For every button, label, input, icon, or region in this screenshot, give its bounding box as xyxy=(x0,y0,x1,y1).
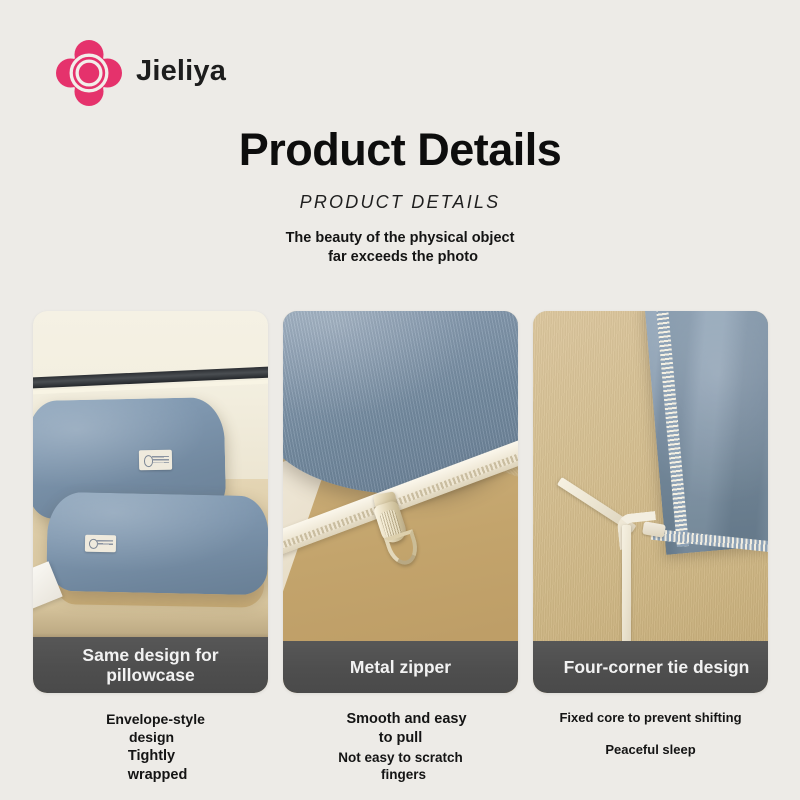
tagline-line-2: far exceeds the photo xyxy=(0,248,800,267)
card-caption-bar: Four-corner tie design xyxy=(533,641,768,693)
page-title: Product Details xyxy=(0,126,800,173)
product-card-corner-tie[interactable]: Four-corner tie design xyxy=(533,311,768,693)
product-card-pillowcase[interactable]: Same design for pillowcase xyxy=(33,311,268,693)
brand-name: Jieliya xyxy=(136,57,226,86)
description-corner-tie: Fixed core to prevent shifting Peaceful … xyxy=(533,700,768,790)
brand-fabric-tag-icon xyxy=(85,535,116,552)
description-line: Peaceful sleep xyxy=(533,742,768,759)
description-line: Tightly xyxy=(33,747,268,766)
corner-tie-closeup-photo xyxy=(533,311,768,693)
product-detail-card-row: Same design for pillowcase Meta xyxy=(33,311,768,693)
description-line: Fixed core to prevent shifting xyxy=(533,710,768,727)
card-caption-text: Same design for pillowcase xyxy=(78,645,222,686)
description-pillowcase: Envelope-style design Tightly wrapped xyxy=(33,700,268,790)
flower-quatrefoil-logo-icon xyxy=(56,40,122,106)
description-line: wrapped xyxy=(33,766,268,785)
page-subtitle: PRODUCT DETAILS xyxy=(0,192,800,213)
description-line: design xyxy=(33,728,268,746)
description-line: fingers xyxy=(283,766,518,784)
card-caption-bar: Same design for pillowcase xyxy=(33,637,268,693)
description-line: to pull xyxy=(283,729,518,748)
tagline: The beauty of the physical object far ex… xyxy=(0,229,800,266)
brand-header: Jieliya xyxy=(56,40,226,106)
title-block: Product Details PRODUCT DETAILS The beau… xyxy=(0,126,800,266)
product-card-zipper[interactable]: Metal zipper xyxy=(283,311,518,693)
description-row: Envelope-style design Tightly wrapped Sm… xyxy=(33,700,768,790)
description-line: Envelope-style xyxy=(33,710,268,728)
card-caption-bar: Metal zipper xyxy=(283,641,518,693)
description-line: Smooth and easy xyxy=(283,710,518,729)
description-line: Not easy to scratch xyxy=(283,749,518,767)
pillow-front xyxy=(46,492,268,596)
tagline-line-1: The beauty of the physical object xyxy=(0,229,800,248)
pillow-pair-photo xyxy=(33,311,268,693)
description-zipper: Smooth and easy to pull Not easy to scra… xyxy=(283,700,518,790)
card-caption-text: Four-corner tie design xyxy=(560,657,754,677)
card-caption-text: Metal zipper xyxy=(346,657,455,677)
brand-fabric-tag-icon xyxy=(139,450,172,470)
metal-zipper-closeup-photo xyxy=(283,311,518,693)
